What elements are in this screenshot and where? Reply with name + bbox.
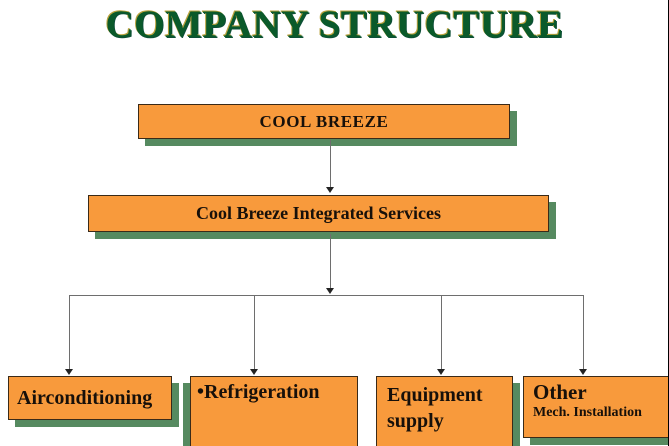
page-title: COMPANY STRUCTURE — [0, 2, 669, 47]
arrowhead-down-icon — [326, 187, 334, 193]
node-refrigeration-label: •Refrigeration — [191, 377, 357, 446]
arrowhead-down-icon — [250, 369, 258, 375]
connector-bus-to-refrigeration — [254, 295, 255, 370]
connector-horizontal-bus — [69, 295, 584, 296]
node-equipment-supply[interactable]: Equipment supply — [376, 376, 513, 446]
connector-bus-to-equipment-supply — [441, 295, 442, 370]
slide-canvas: COMPANY STRUCTURE COOL BREEZE Cool Breez… — [0, 0, 669, 446]
connector-cool-breeze-to-integrated — [330, 140, 331, 188]
arrowhead-down-icon — [579, 369, 587, 375]
node-equipment-supply-line1: Equipment — [387, 382, 483, 408]
node-integrated-services-label: Cool Breeze Integrated Services — [89, 196, 548, 231]
node-cool-breeze[interactable]: COOL BREEZE — [138, 104, 510, 139]
node-airconditioning[interactable]: Airconditioning — [8, 376, 172, 420]
node-other-subtitle: Mech. Installation — [533, 405, 642, 421]
arrowhead-down-icon — [65, 369, 73, 375]
arrowhead-down-icon — [326, 288, 334, 294]
node-integrated-services[interactable]: Cool Breeze Integrated Services — [88, 195, 549, 232]
node-cool-breeze-label: COOL BREEZE — [139, 105, 509, 138]
node-other-label: Other — [533, 381, 587, 404]
node-airconditioning-label: Airconditioning — [9, 377, 171, 419]
connector-bus-to-airconditioning — [69, 295, 70, 370]
node-refrigeration[interactable]: •Refrigeration — [190, 376, 358, 446]
connector-bus-to-other — [583, 295, 584, 370]
arrowhead-down-icon — [437, 369, 445, 375]
node-equipment-supply-text: Equipment supply — [377, 377, 512, 446]
node-other-text: Other Mech. Installation — [524, 377, 668, 437]
node-other[interactable]: Other Mech. Installation — [523, 376, 669, 438]
node-equipment-supply-line2: supply — [387, 408, 444, 434]
connector-integrated-to-bus — [330, 234, 331, 288]
